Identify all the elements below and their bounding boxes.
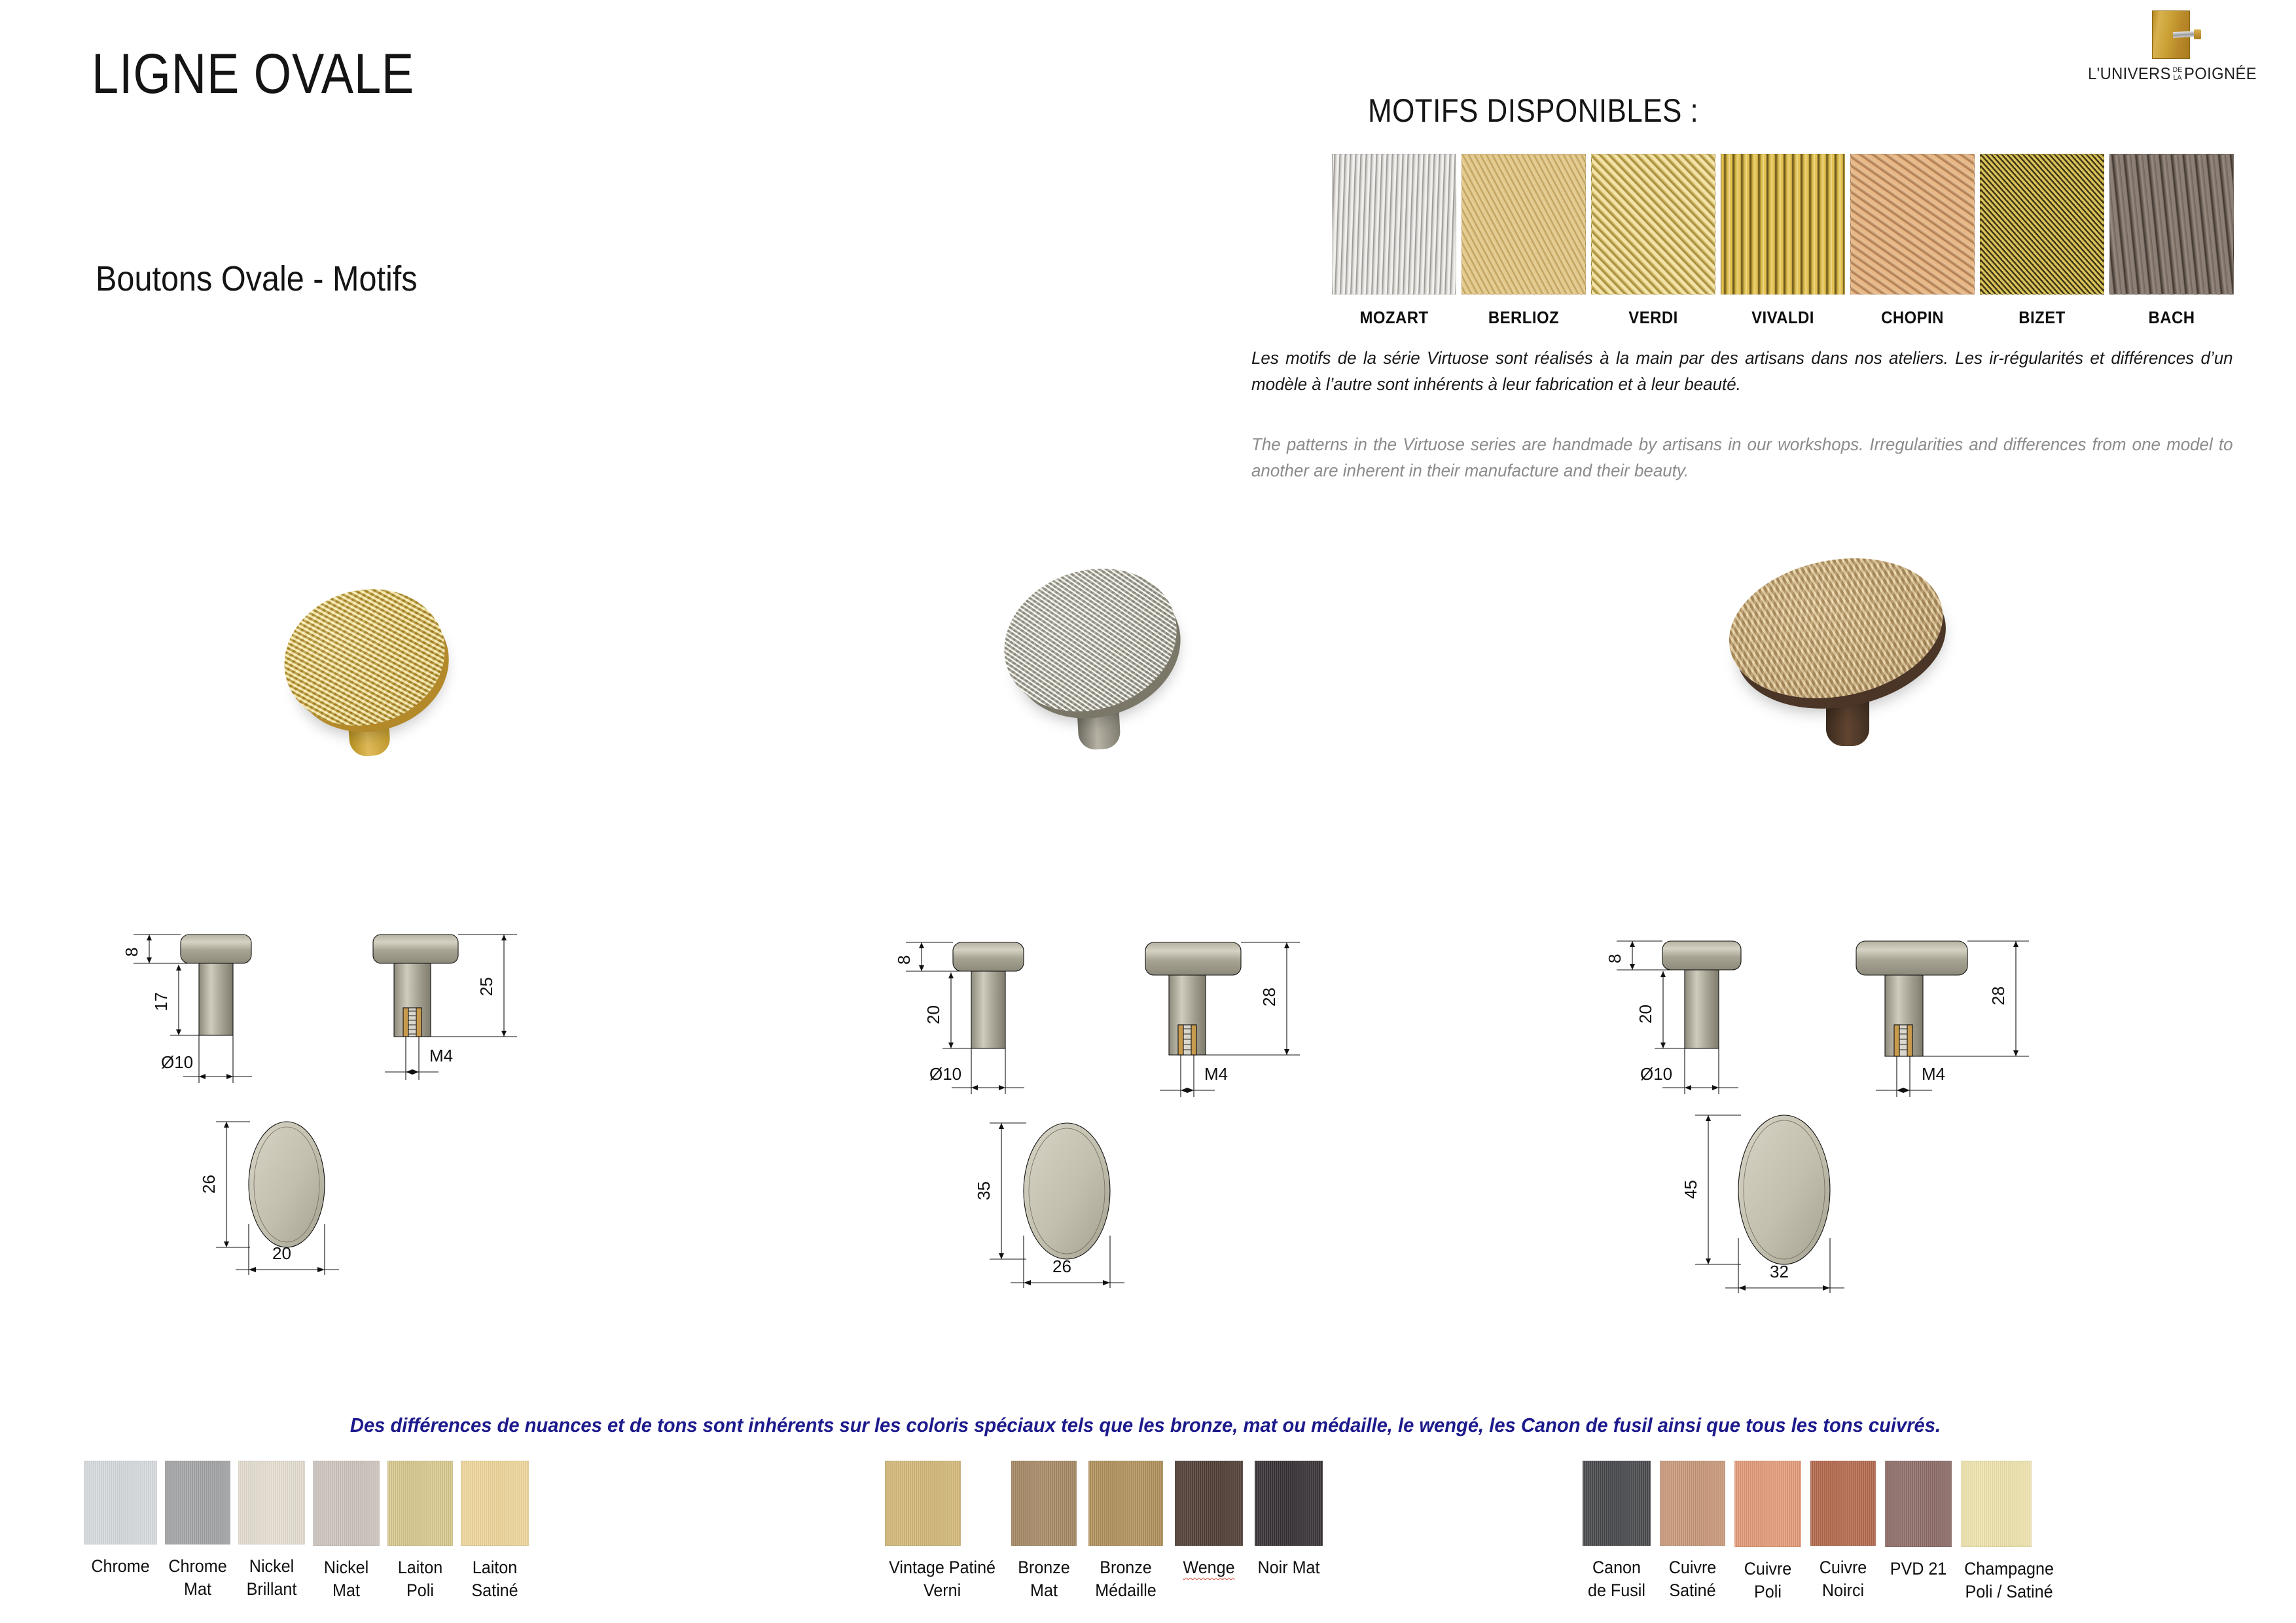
catalog-page: LIGNE OVALE Boutons Ovale - Motifs L'UNI…	[0, 0, 2296, 1623]
finish-vintage-patin-verni: Vintage Patiné Verni	[885, 1461, 999, 1601]
dim-oval-width-1: 20	[272, 1243, 291, 1263]
finish-group-bronze: Vintage Patiné VerniBronze MatBronze Méd…	[885, 1461, 1323, 1601]
logo-wordmark: L'UNIVERS DE LA POIGNÉE	[2070, 65, 2275, 84]
finish-swatch	[1734, 1461, 1801, 1547]
finish-swatch	[1885, 1461, 1952, 1547]
motif-bach: BACH	[2109, 154, 2234, 328]
technical-drawing-2: 8 20 Ø10 28 M4 35 26	[884, 929, 1486, 1296]
logo-door-plate-icon	[2147, 9, 2198, 60]
technical-drawing-3: 8 20 Ø10 28 M4 45 32	[1597, 929, 2212, 1302]
knob-cap	[986, 547, 1195, 733]
dim-stem-height-1: 17	[151, 992, 171, 1011]
finish-swatch	[165, 1461, 230, 1544]
motif-bizet: BIZET	[1980, 154, 2104, 328]
dim-cap-height-1: 8	[122, 948, 141, 957]
dim-thread-2: M4	[1204, 1064, 1228, 1084]
finish-swatch	[1255, 1461, 1323, 1546]
finish-label: Noir Mat	[1257, 1556, 1321, 1579]
motif-swatch	[1462, 154, 1586, 294]
finish-swatch	[84, 1461, 157, 1544]
motif-label: BIZET	[1985, 308, 2100, 328]
finish-swatch	[1175, 1461, 1243, 1546]
motif-swatch	[1980, 154, 2104, 294]
page-subtitle: Boutons Ovale - Motifs	[96, 259, 418, 299]
motif-swatch	[2109, 154, 2234, 294]
motif-label: CHOPIN	[1856, 308, 1970, 328]
motif-vivaldi: VIVALDI	[1721, 154, 1845, 328]
dim-oval-width-2: 26	[1052, 1257, 1071, 1276]
logo-word-dela: DE LA	[2173, 67, 2183, 82]
finish-label: Chrome Mat	[168, 1555, 228, 1600]
dim-stem-diameter-3: Ø10	[1640, 1064, 1672, 1084]
finish-swatch	[1810, 1461, 1876, 1546]
finish-label: Laiton Satiné	[463, 1556, 527, 1601]
technical-drawing-1: 8 17 Ø10 25 M4 26 20	[111, 916, 687, 1283]
dim-stem-diameter-1: Ø10	[161, 1052, 193, 1072]
motif-berlioz: BERLIOZ	[1462, 154, 1586, 328]
knob-cap	[1717, 541, 1955, 715]
dim-stem-diameter-2: Ø10	[929, 1064, 961, 1084]
finish-swatch	[1088, 1461, 1163, 1546]
motif-swatch	[1332, 154, 1456, 294]
dim-oval-length-3: 45	[1681, 1180, 1700, 1199]
finish-group-copper: Canon de FusilCuivre SatinéCuivre PoliCu…	[1583, 1461, 2057, 1603]
brand-logo: L'UNIVERS DE LA POIGNÉE	[2064, 9, 2280, 84]
dim-thread-3: M4	[1922, 1064, 1945, 1084]
motifs-swatch-row: MOZARTBERLIOZVERDIVIVALDICHOPINBIZETBACH	[1332, 154, 2234, 328]
note-en: The patterns in the Virtuose series are …	[1251, 432, 2233, 484]
finish-cuivre-poli: Cuivre Poli	[1734, 1461, 1801, 1603]
motif-label: VERDI	[1596, 308, 1711, 328]
motif-swatch	[1721, 154, 1845, 294]
motif-label: VIVALDI	[1726, 308, 1840, 328]
drawing-svg-2: 8 20 Ø10 28 M4 35 26	[884, 929, 1486, 1296]
dim-oval-length-1: 26	[199, 1175, 219, 1194]
finish-nickel-brillant: Nickel Brillant	[238, 1461, 305, 1600]
finish-swatch	[1961, 1461, 2032, 1547]
finish-swatch	[387, 1461, 453, 1546]
finish-swatch	[461, 1461, 529, 1546]
dim-cap-height-2: 8	[894, 955, 914, 965]
finish-swatch	[1583, 1461, 1651, 1546]
finish-label: Nickel Mat	[315, 1556, 378, 1601]
finish-swatch	[885, 1461, 961, 1546]
finish-swatch	[238, 1461, 305, 1544]
dim-total-height-1: 25	[476, 977, 496, 996]
finish-bronze-mat: Bronze Mat	[1011, 1461, 1077, 1601]
motif-chopin: CHOPIN	[1850, 154, 1975, 328]
product-photo-2	[994, 562, 1242, 777]
finish-group-standard: ChromeChrome MatNickel BrillantNickel Ma…	[84, 1461, 529, 1601]
motif-swatch	[1850, 154, 1975, 294]
finish-champagne-poli-satin: Champagne Poli / Satiné	[1961, 1461, 2057, 1603]
finish-label: Cuivre Satiné	[1662, 1556, 1723, 1601]
finish-wenge: Wenge	[1175, 1461, 1243, 1579]
finish-laiton-poli: Laiton Poli	[387, 1461, 453, 1601]
finishes-note: Des différences de nuances et de tons so…	[340, 1414, 1952, 1437]
finish-cuivre-satin: Cuivre Satiné	[1660, 1461, 1725, 1601]
finish-cuivre-noirci: Cuivre Noirci	[1810, 1461, 1876, 1601]
finish-nickel-mat: Nickel Mat	[313, 1461, 380, 1601]
finish-label: Nickel Brillant	[241, 1555, 303, 1600]
dim-stem-height-2: 20	[924, 1005, 943, 1024]
finish-label: Champagne Poli / Satiné	[1964, 1558, 2054, 1603]
finish-label: Cuivre Poli	[1737, 1558, 1799, 1603]
dim-total-height-3: 28	[1988, 986, 2008, 1005]
logo-word-univers: L'UNIVERS	[2088, 65, 2171, 84]
dim-stem-height-3: 20	[1636, 1005, 1655, 1024]
finish-chrome-mat: Chrome Mat	[165, 1461, 230, 1600]
finish-bronze-m-daille: Bronze Médaille	[1088, 1461, 1163, 1601]
finish-label: Wenge	[1177, 1556, 1241, 1579]
dim-oval-width-3: 32	[1770, 1262, 1789, 1281]
knob-cap	[268, 571, 461, 744]
finish-label: Bronze Médaille	[1091, 1556, 1160, 1601]
motif-verdi: VERDI	[1591, 154, 1715, 328]
finish-label: Vintage Patiné Verni	[889, 1556, 996, 1601]
note-fr: Les motifs de la série Virtuose sont réa…	[1251, 346, 2233, 398]
drawing-svg-1: 8 17 Ø10 25 M4 26 20	[111, 916, 687, 1283]
product-photo-1	[275, 576, 511, 792]
motif-mozart: MOZART	[1332, 154, 1456, 328]
page-title: LIGNE OVALE	[92, 46, 414, 102]
finish-label: Canon de Fusil	[1585, 1556, 1649, 1601]
dim-thread-1: M4	[429, 1046, 453, 1065]
finish-label: Laiton Poli	[390, 1556, 451, 1601]
finish-swatch	[1660, 1461, 1725, 1546]
finish-noir-mat: Noir Mat	[1255, 1461, 1323, 1579]
motif-label: BERLIOZ	[1467, 308, 1581, 328]
finish-pvd-21: PVD 21	[1885, 1461, 1952, 1580]
finish-label: Chrome	[86, 1555, 154, 1578]
drawing-svg-3: 8 20 Ø10 28 M4 45 32	[1597, 929, 2212, 1302]
motifs-heading: MOTIFS DISPONIBLES :	[1368, 92, 1698, 130]
finish-laiton-satin: Laiton Satiné	[461, 1461, 529, 1601]
finish-chrome: Chrome	[84, 1461, 157, 1578]
motif-swatch	[1591, 154, 1715, 294]
dim-total-height-2: 28	[1259, 988, 1279, 1007]
finish-swatch	[313, 1461, 380, 1546]
finish-label: PVD 21	[1888, 1558, 1950, 1580]
finish-swatch	[1011, 1461, 1077, 1546]
logo-word-poignee: POIGNÉE	[2184, 65, 2257, 84]
dim-oval-length-2: 35	[974, 1181, 994, 1200]
dim-cap-height-3: 8	[1605, 954, 1624, 963]
product-photo-3	[1721, 555, 2003, 771]
finish-label: Cuivre Noirci	[1813, 1556, 1874, 1601]
finish-label: Bronze Mat	[1014, 1556, 1075, 1601]
motif-label: BACH	[2115, 308, 2229, 328]
finish-canon-de-fusil: Canon de Fusil	[1583, 1461, 1651, 1601]
motif-label: MOZART	[1337, 308, 1452, 328]
